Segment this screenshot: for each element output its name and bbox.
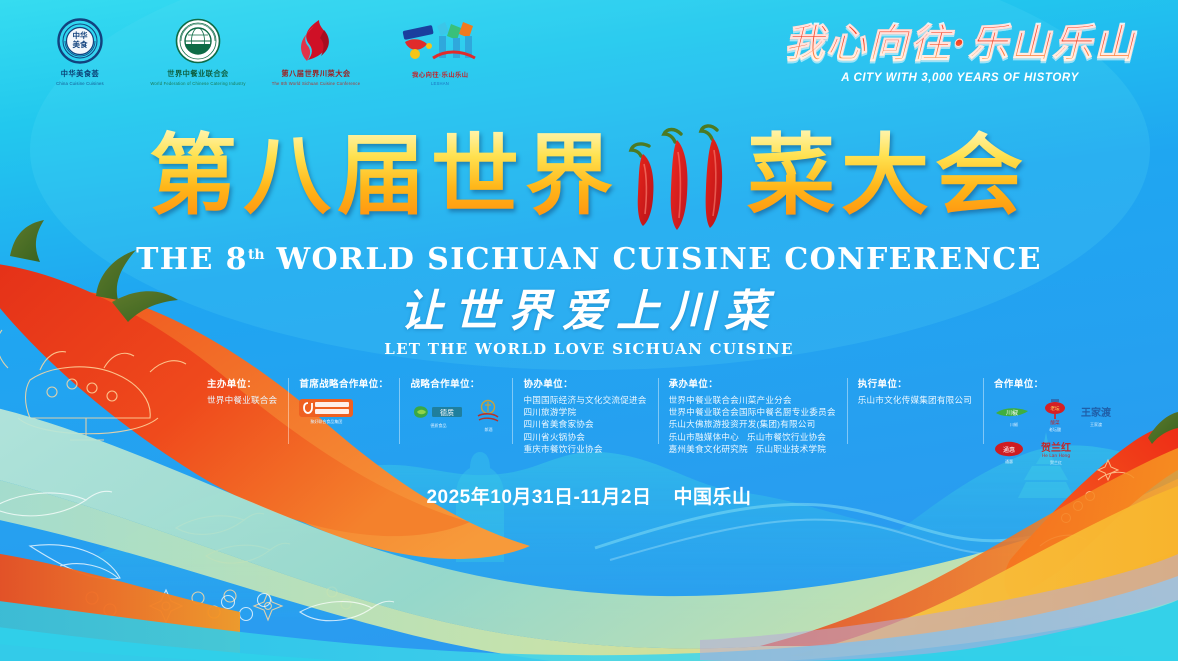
svg-text:德质: 德质	[440, 408, 454, 417]
logo-caption-cn: 中华美食荟	[61, 68, 99, 79]
conference-poster: 中华 美食 中华美食荟 China Cuisine Cuisines	[0, 0, 1178, 661]
juxian-partner-logo: 聚好联合食品集团	[299, 399, 353, 425]
title-cn-after: 菜大会	[747, 123, 1029, 227]
organizer-head: 协办单位：	[523, 376, 646, 390]
organizer-strip: 主办单位： 世界中餐业联合会 首席战略合作单位： 聚好联合食品集团	[196, 376, 1127, 452]
organizer-head: 承办单位：	[669, 376, 836, 390]
partner-logo-caption: 聚好联合食品集团	[310, 419, 342, 425]
cooperation-logo-caption: 老坛酸	[1049, 427, 1061, 433]
logo-caption-en: The 8th World Sichuan Cuisine Conference	[272, 81, 360, 86]
logo-caption-cn: 我心向往·乐山乐山	[412, 69, 468, 79]
partner-logo-caption: 德质食品	[430, 423, 446, 429]
logo-caption-en: China Cuisine Cuisines	[56, 81, 104, 86]
organizer-col-co-organizer: 协办单位： 中国国际经济与文化交流促进会 四川旅游学院 四川省美食家协会 四川省…	[512, 376, 657, 455]
svg-text:中华: 中华	[73, 30, 88, 40]
partner-logo-caption: 郎酒	[484, 427, 492, 433]
mint-ribbon-line-art	[0, 491, 394, 622]
organizer-col-strategic-partner: 战略合作单位： 德质 德质食品	[399, 376, 512, 433]
organizer-line: 四川旅游学院	[523, 406, 646, 418]
green-brand-logo: 川椒 川椒	[994, 404, 1034, 428]
page-title: 第八届世界	[0, 128, 1178, 224]
organizer-line: 中国国际经济与文化交流促进会	[523, 394, 646, 406]
date-location: 2025年10月31日-11月2日中国乐山	[0, 482, 1178, 509]
cooperation-logo-caption: 川椒	[1010, 422, 1018, 428]
city-slogan-cn: 我心向往·乐山乐山	[784, 24, 1136, 64]
chili-character-glyph	[619, 128, 747, 224]
logo-china-cuisine-cuisines: 中华 美食 中华美食荟 China Cuisine Cuisines	[36, 18, 124, 86]
logo-caption-en: LESHAN	[431, 81, 449, 86]
orange-ribbon-left	[0, 548, 240, 661]
title-cn-before: 第八届世界	[149, 123, 619, 227]
title-en-prefix: THE 8	[136, 242, 248, 277]
calligraphy-slogan: 让世界爱上川菜 LET THE WORLD LOVE SICHUAN CUISI…	[0, 288, 1178, 358]
event-date: 2025年10月31日-11月2日	[426, 487, 651, 508]
organizer-head: 首席战略合作单位：	[299, 376, 388, 390]
conference-flame-icon	[293, 18, 339, 64]
guojiao-seal-logo: 郎酒	[475, 399, 501, 433]
calligraphy-slogan-cn: 让世界爱上川菜	[0, 288, 1178, 336]
cooperation-logo-row-1: 川椒 川椒 老坛 酸菜 老坛酸 王家渡	[994, 399, 1116, 433]
organizer-line: 世界中餐业联合会川菜产业分会	[669, 394, 836, 406]
partner-logo-row: 聚好联合食品集团	[299, 399, 388, 425]
cooperation-logo-caption: 贺兰红	[1050, 460, 1062, 466]
organizer-col-cooperation: 合作单位： 川椒 川椒 老坛 酸菜	[983, 376, 1127, 466]
logo-world-federation-chinese-catering: 世界中餐业联合会 World Federation of Chinese Cat…	[154, 18, 242, 86]
city-slogan: 我心向往·乐山乐山 A CITY WITH 3,000 YEARS OF HIS…	[784, 24, 1136, 84]
title-en-rest: WORLD SICHUAN CUISINE CONFERENCE	[265, 242, 1042, 277]
organizer-col-undertaker: 承办单位： 世界中餐业联合会川菜产业分会 世界中餐业联合会国际中餐名厨专业委员会…	[658, 376, 847, 455]
title-en: THE 8th WORLD SICHUAN CUISINE CONFERENCE	[0, 242, 1178, 277]
oval-red-brand-logo: 通惠 通惠	[994, 441, 1024, 465]
organizer-line: 乐山市餐饮行业协会	[747, 431, 826, 443]
svg-text:川椒: 川椒	[1006, 409, 1018, 417]
yellow-ribbon-right	[790, 486, 1178, 656]
svg-text:老坛: 老坛	[1050, 405, 1060, 412]
logo-caption-cn: 世界中餐业联合会	[167, 68, 228, 79]
cyan-ribbon	[0, 576, 1178, 661]
organizer-line: 世界中餐业联合会	[207, 394, 277, 406]
logo-caption-en: World Federation of Chinese Catering Ind…	[150, 81, 245, 86]
calligraphy-slogan-en: LET THE WORLD LOVE SICHUAN CUISINE	[0, 340, 1178, 358]
violet-ribbon	[700, 554, 1178, 661]
svg-text:王家渡: 王家渡	[1081, 406, 1112, 419]
helanhong-logo: 贺兰红 He Lan Hong 贺兰红	[1033, 440, 1079, 466]
organizer-head: 主办单位：	[207, 376, 277, 390]
title-en-ordinal: th	[248, 247, 265, 263]
organizer-col-host: 主办单位： 世界中餐业联合会	[196, 376, 288, 406]
organizer-line: 重庆市餐饮行业协会	[523, 443, 646, 455]
china-cuisine-cuisines-icon: 中华 美食	[57, 18, 103, 64]
organizer-line: 嘉州美食文化研究院	[669, 443, 748, 455]
organizer-line: 乐山职业技术学院	[756, 443, 826, 455]
header-logo-row: 中华 美食 中华美食荟 China Cuisine Cuisines	[36, 18, 490, 86]
svg-text:通惠: 通惠	[1003, 446, 1015, 454]
organizer-col-executor: 执行单位： 乐山市文化传媒集团有限公司	[847, 376, 983, 406]
leshan-city-brand-icon	[399, 19, 481, 65]
organizer-col-chief-strategic-partner: 首席战略合作单位： 聚好联合食品集团	[288, 376, 399, 425]
logo-caption-cn: 第八届世界川菜大会	[281, 68, 350, 79]
svg-text:贺兰红: 贺兰红	[1040, 441, 1071, 454]
organizer-line-pair: 乐山市融媒体中心 乐山市餐饮行业协会	[669, 431, 836, 443]
svg-text:美食: 美食	[73, 39, 88, 49]
logo-conference-flame: 第八届世界川菜大会 The 8th World Sichuan Cuisine …	[272, 18, 360, 86]
wang-jia-du-logo: 王家渡 王家渡	[1076, 404, 1116, 428]
organizer-head: 战略合作单位：	[410, 376, 501, 390]
city-slogan-en: A CITY WITH 3,000 YEARS OF HISTORY	[784, 72, 1136, 84]
cooperation-logo-caption: 通惠	[1005, 459, 1013, 465]
organizer-line: 乐山市融媒体中心	[669, 431, 739, 443]
cooperation-logo-caption: 王家渡	[1090, 422, 1102, 428]
world-federation-globe-icon	[175, 18, 221, 64]
logo-leshan-city-tourism: 我心向往·乐山乐山 LESHAN	[390, 19, 490, 86]
event-location: 中国乐山	[674, 487, 752, 508]
organizer-line: 乐山市文化传媒集团有限公司	[858, 394, 972, 406]
organizer-line: 乐山大佛旅游投资开发(集团)有限公司	[669, 418, 836, 430]
red-lantern-brand-logo: 老坛 酸菜 老坛酸	[1043, 399, 1067, 433]
organizer-line-pair: 嘉州美食文化研究院 乐山职业技术学院	[669, 443, 836, 455]
deyi-food-logo: 德质 德质食品	[410, 403, 466, 429]
partner-logo-row: 德质 德质食品 郎酒	[410, 399, 501, 433]
organizer-line: 世界中餐业联合会国际中餐名厨专业委员会	[669, 406, 836, 418]
cooperation-logo-row-2: 通惠 通惠 贺兰红 He Lan Hong 贺兰红	[994, 440, 1116, 466]
organizer-head: 执行单位：	[858, 376, 972, 390]
svg-text:He Lan Hong: He Lan Hong	[1042, 453, 1070, 458]
organizer-line: 四川省美食家协会	[523, 418, 646, 430]
food-line-art	[0, 330, 351, 620]
orange-ribbon-right	[760, 448, 1178, 646]
svg-text:酸菜: 酸菜	[1050, 419, 1060, 425]
organizer-line: 四川省火锅协会	[523, 431, 646, 443]
organizer-head: 合作单位：	[994, 376, 1116, 390]
